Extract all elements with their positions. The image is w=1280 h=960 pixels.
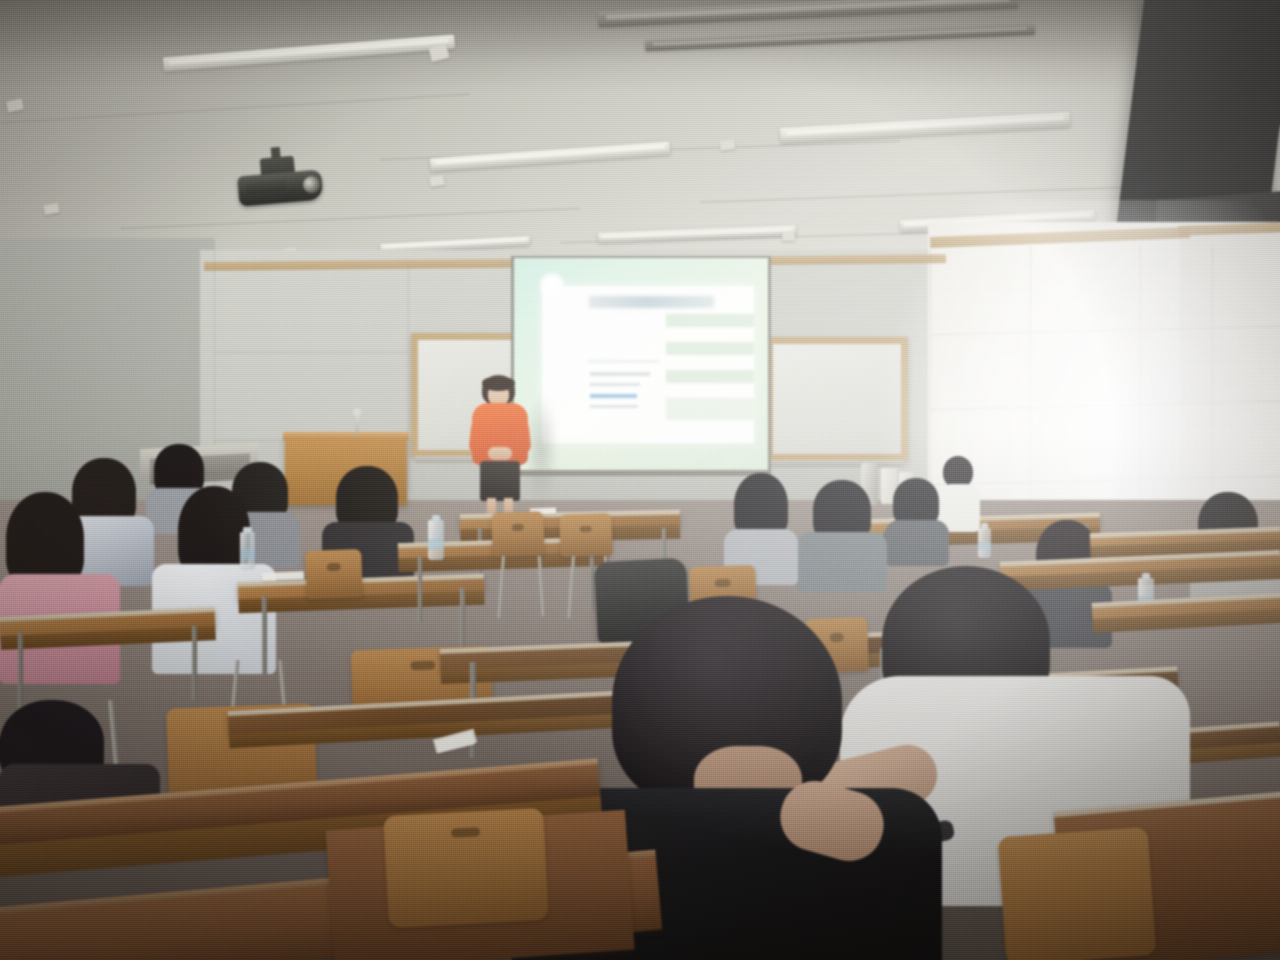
- projector-icon: [236, 159, 324, 210]
- slide-text-line-highlight: [590, 394, 637, 398]
- slide-green-band: [666, 314, 754, 327]
- chair: [491, 511, 545, 557]
- desk-leg: [262, 596, 267, 674]
- whiteboard-right: [766, 337, 908, 461]
- audience-person: [885, 478, 949, 558]
- chair: [998, 827, 1157, 960]
- ceiling-mount-bracket: [719, 139, 735, 151]
- slide-text-line: [588, 360, 660, 363]
- ceiling-mount-bracket: [429, 175, 444, 187]
- slide-green-band: [666, 342, 754, 355]
- slide-text-line: [590, 383, 640, 386]
- water-bottle: [240, 532, 255, 568]
- audience-person: [724, 473, 798, 577]
- slide-title-text: [589, 296, 714, 308]
- slide-text-line: [590, 405, 638, 408]
- wall-panel-seam: [408, 262, 409, 492]
- wall-panel-seam: [214, 352, 410, 353]
- wall-panel-seam: [1212, 246, 1213, 526]
- desk-leg: [192, 626, 197, 700]
- water-bottle: [428, 520, 444, 560]
- chair: [559, 513, 612, 557]
- slide-green-band: [666, 370, 754, 383]
- water-bottle: [978, 528, 991, 558]
- presenter: [468, 375, 532, 520]
- chair: [305, 549, 363, 599]
- papers: [262, 571, 304, 580]
- ceiling-mount-bracket: [782, 232, 795, 241]
- lectern-top: [283, 432, 409, 440]
- slide-green-band: [666, 398, 754, 420]
- desk-leg: [418, 556, 422, 622]
- wall-panel-seam: [1140, 244, 1141, 514]
- microphone-head-icon: [353, 408, 361, 416]
- projector-glare-icon: [539, 272, 565, 298]
- presenter-skirt: [480, 461, 520, 501]
- slide-text-line: [590, 372, 650, 376]
- classroom-photo: [0, 0, 1280, 960]
- wall-panel-seam: [1030, 246, 1031, 516]
- chair: [383, 808, 549, 928]
